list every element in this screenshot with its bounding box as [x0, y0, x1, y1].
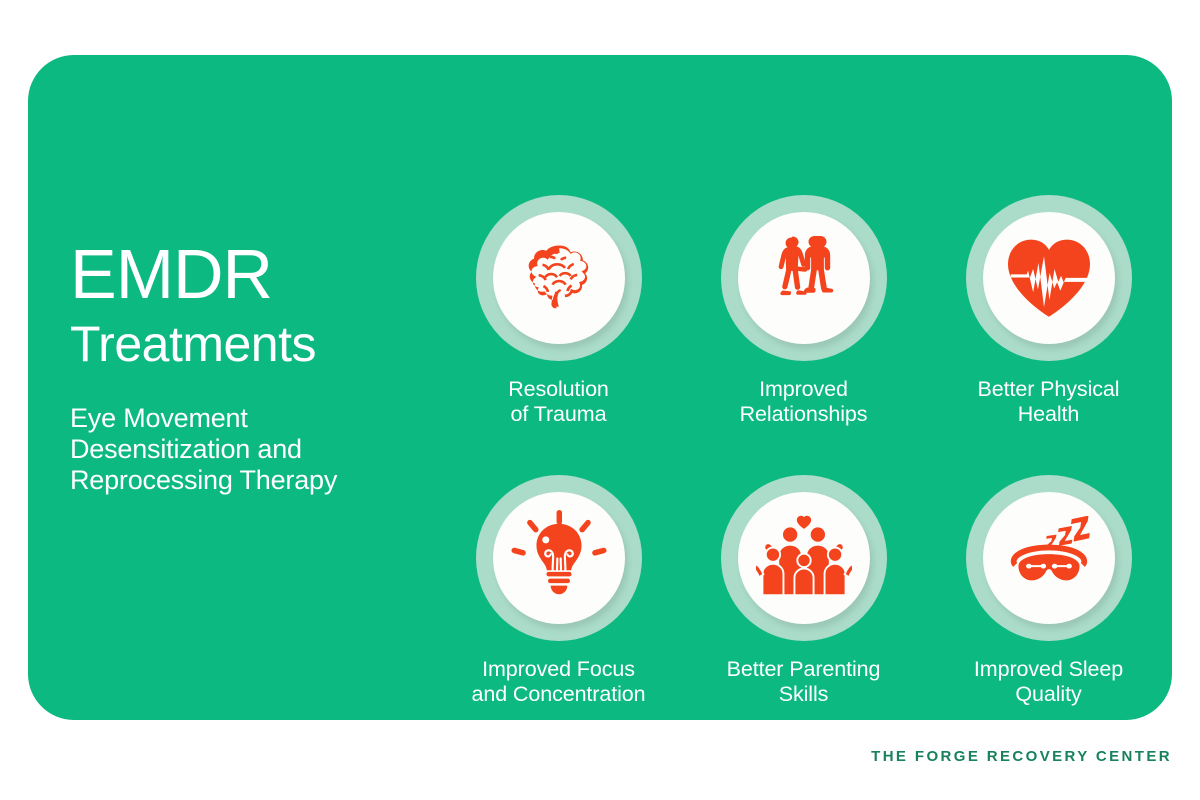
family-group-icon [756, 515, 852, 601]
benefit-item-resolution-of-trauma: Resolution of Trauma [436, 195, 681, 427]
benefit-item-improved-sleep-quality: Improved Sleep Quality [926, 475, 1171, 707]
benefit-label: Improved Relationships [740, 377, 868, 427]
heart-with-heartbeat-icon [1004, 237, 1094, 319]
benefit-label: Resolution of Trauma [508, 377, 609, 427]
benefit-label: Better Physical Health [978, 377, 1120, 427]
sleep-mask-icon [1001, 516, 1097, 600]
emdr-treatments-infographic: EMDR Treatments Eye Movement Desensitiza… [0, 0, 1200, 800]
footer-brand: THE FORGE RECOVERY CENTER [871, 748, 1172, 765]
headline-block: EMDR Treatments Eye Movement Desensitiza… [70, 240, 430, 497]
page-subtitle: Treatments [70, 319, 430, 369]
benefits-grid: Resolution of Trauma [436, 195, 1171, 708]
icon-disc [983, 492, 1115, 624]
icon-ring [476, 475, 642, 641]
benefit-label: Improved Focus and Concentration [471, 657, 645, 707]
benefit-item-improved-focus: Improved Focus and Concentration [436, 475, 681, 707]
page-title: EMDR [70, 240, 430, 309]
couple-holding-hands-icon [764, 232, 844, 324]
benefit-item-better-physical-health: Better Physical Health [926, 195, 1171, 427]
icon-disc [983, 212, 1115, 344]
green-card-panel: EMDR Treatments Eye Movement Desensitiza… [28, 55, 1172, 720]
icon-ring [476, 195, 642, 361]
benefit-item-improved-relationships: Improved Relationships [681, 195, 926, 427]
icon-disc [493, 212, 625, 344]
icon-disc [738, 212, 870, 344]
page-description: Eye Movement Desensitization and Reproce… [70, 403, 430, 497]
brain-icon [515, 234, 603, 322]
benefit-label: Better Parenting Skills [727, 657, 881, 707]
icon-disc [493, 492, 625, 624]
icon-disc [738, 492, 870, 624]
icon-ring [721, 195, 887, 361]
benefit-label: Improved Sleep Quality [974, 657, 1123, 707]
benefit-item-better-parenting-skills: Better Parenting Skills [681, 475, 926, 707]
icon-ring [966, 195, 1132, 361]
lightbulb-icon [510, 510, 608, 606]
icon-ring [721, 475, 887, 641]
icon-ring [966, 475, 1132, 641]
